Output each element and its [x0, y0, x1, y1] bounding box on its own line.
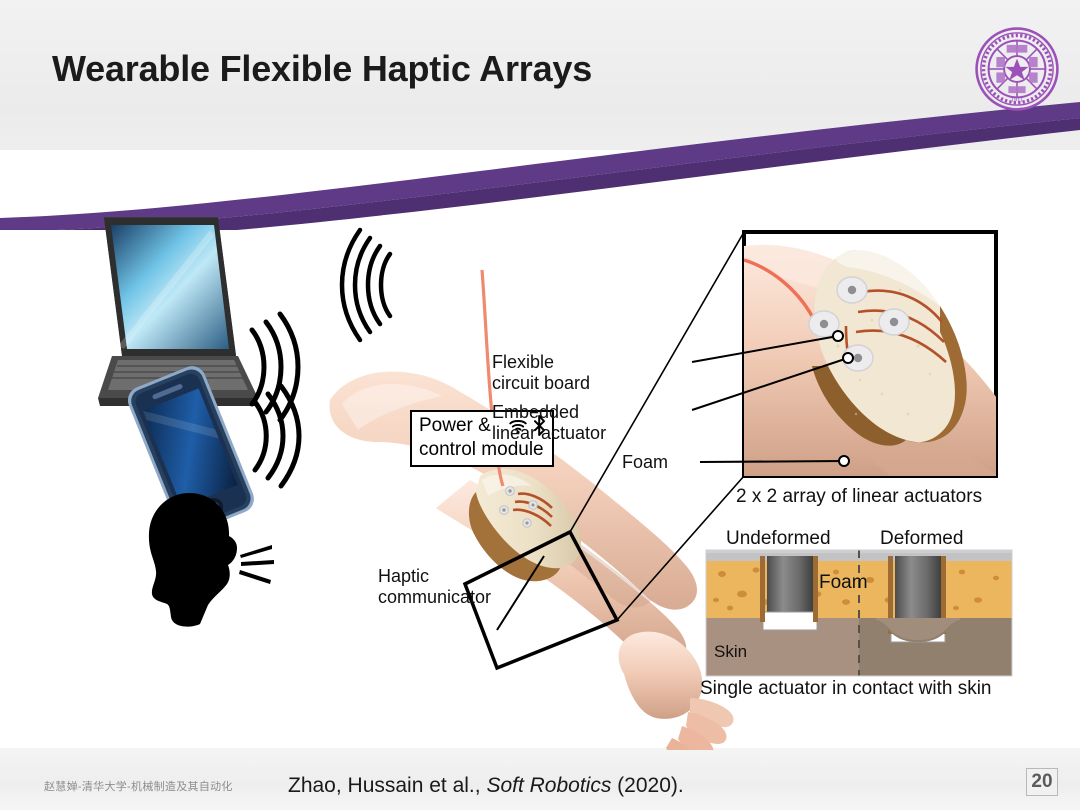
voice-lines — [239, 545, 274, 584]
undeformed-label: Undeformed — [726, 528, 831, 550]
page-number-badge: 20 — [1026, 768, 1058, 796]
haptic-system-figure: Power & control module Haptic communicat… — [0, 150, 1080, 750]
cross-section-diagram — [706, 550, 1012, 676]
foam-section-label: Foam — [819, 572, 868, 594]
speaking-head-icon — [149, 493, 237, 627]
footer-author: 赵慧婵-清华大学-机械制造及其自动化 — [44, 778, 233, 794]
embedded-linear-actuator-label: Embedded linear actuator — [492, 402, 606, 444]
flexible-circuit-board-label: Flexible circuit board — [492, 352, 692, 394]
citation-prefix: Zhao, Hussain et al., — [288, 774, 486, 797]
citation-journal: Soft Robotics — [486, 774, 611, 797]
slide-title: Wearable Flexible Haptic Arrays — [52, 48, 592, 90]
foam-callout-label: Foam — [622, 452, 668, 473]
tsinghua-logo-icon: 1911 — [974, 26, 1060, 112]
inset-caption: 2 x 2 array of linear actuators — [736, 486, 982, 508]
module-line1: Power & — [419, 415, 491, 437]
deformed-label: Deformed — [880, 528, 963, 550]
inset-panel — [692, 232, 1010, 476]
cross-section-caption: Single actuator in contact with skin — [700, 678, 992, 700]
citation-suffix: (2020). — [611, 774, 683, 797]
haptic-communicator-label: Haptic communicator — [378, 566, 491, 608]
phone-signal-waves — [255, 386, 299, 486]
module-signal-waves — [342, 230, 390, 340]
logo-year: 1911 — [1011, 98, 1023, 104]
footer-citation: Zhao, Hussain et al., Soft Robotics (202… — [288, 774, 684, 798]
skin-section-label: Skin — [714, 642, 747, 662]
slide-canvas: Wearable Flexible Haptic Arrays — [0, 0, 1080, 810]
